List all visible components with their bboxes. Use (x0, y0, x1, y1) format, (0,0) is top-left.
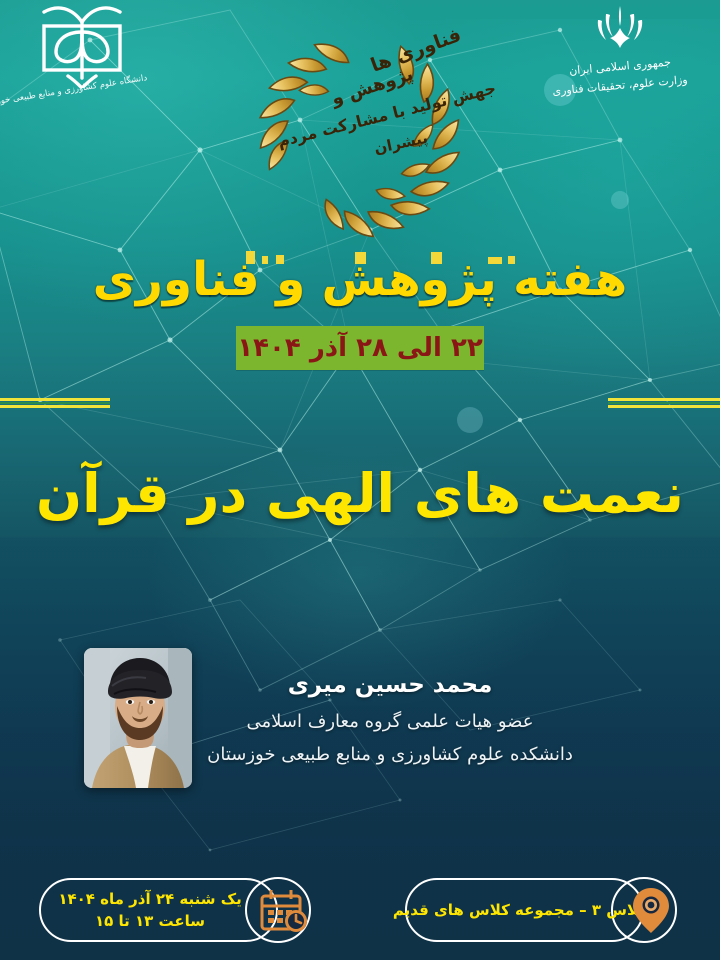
speaker-info: محمد حسین میری عضو هیات علمی گروه معارف … (180, 672, 600, 765)
date-range-banner: ۲۲ الی ۲۸ آذر ۱۴۰۴ (236, 326, 484, 370)
speaker-role: عضو هیات علمی گروه معارف اسلامی (180, 711, 600, 732)
map-pin-icon (628, 885, 674, 935)
date-pill-text: یک شنبه ۲۴ آذر ماه ۱۴۰۴ ساعت ۱۳ تا ۱۵ (50, 873, 250, 947)
speaker-photo (84, 648, 192, 788)
university-logo: دانشگاه علوم کشاورزی و منابع طبیعی خوزست… (14, 2, 134, 122)
week-title: هفته پژوهش و فناوری (0, 252, 720, 307)
research-week-emblem: فناوری ها پژوهش و جهش تولید با مشارکت مر… (206, 8, 506, 266)
iran-emblem-icon (592, 4, 648, 50)
date-pill-line-2: ساعت ۱۳ تا ۱۵ (95, 910, 205, 933)
event-poster: دانشگاه علوم کشاورزی و منابع طبیعی خوزست… (0, 0, 720, 960)
svg-text:پیشران: پیشران (373, 129, 430, 159)
divider-left (0, 398, 110, 408)
location-pill-line-1: کلاس ۳ – مجموعه کلاس های قدیم (393, 899, 647, 922)
calendar-clock-icon (258, 888, 310, 934)
date-time-pill: یک شنبه ۲۴ آذر ماه ۱۴۰۴ ساعت ۱۳ تا ۱۵ (34, 873, 318, 947)
speaker-affiliation: دانشکده علوم کشاورزی و منابع طبیعی خوزست… (180, 744, 600, 765)
location-pill: کلاس ۳ – مجموعه کلاس های قدیم (400, 873, 684, 947)
page-title: نعمت های الهی در قرآن (0, 462, 720, 525)
ministry-logo: جمهوری اسلامی ایران وزارت علوم، تحقیقات … (530, 4, 710, 92)
svg-text:فناوری ها: فناوری ها (368, 24, 464, 77)
location-pill-text: کلاس ۳ – مجموعه کلاس های قدیم (416, 873, 624, 947)
open-book-leaf-icon (30, 2, 134, 88)
divider-right (608, 398, 720, 408)
speaker-name: محمد حسین میری (180, 672, 600, 698)
date-pill-line-1: یک شنبه ۲۴ آذر ماه ۱۴۰۴ (58, 888, 241, 911)
